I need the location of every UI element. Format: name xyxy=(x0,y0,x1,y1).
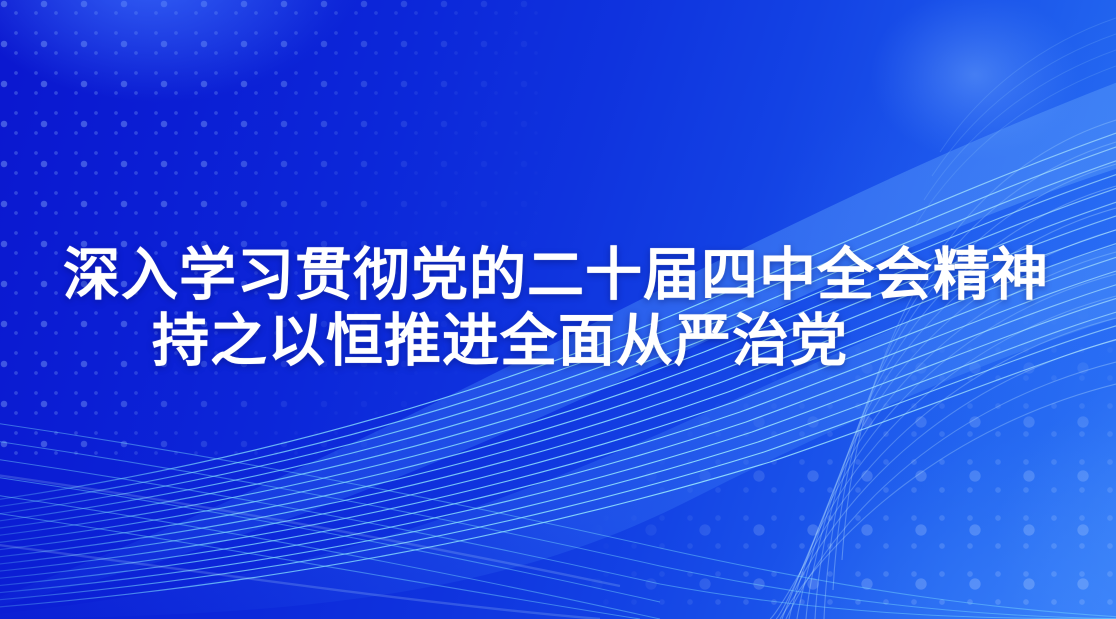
glow-circle-top-right xyxy=(870,0,1080,160)
flowing-line-fan-lower xyxy=(0,418,1116,619)
banner-slide: 深入学习贯彻党的二十届四中全会精神 持之以恒推进全面从严治党 xyxy=(0,0,1116,619)
glow-arc-top-left xyxy=(0,0,340,100)
page-title: 深入学习贯彻党的二十届四中全会精神 持之以恒推进全面从严治党 xyxy=(0,243,1116,375)
halftone-dot-field-top-left xyxy=(0,0,550,460)
faint-arc-lines-top-right xyxy=(916,18,1116,224)
highlight-streaks-bottom-left xyxy=(0,470,620,619)
title-line-1: 深入学习贯彻党的二十届四中全会精神 xyxy=(0,243,1114,309)
title-line-2: 持之以恒推进全面从严治党 xyxy=(0,309,1058,375)
